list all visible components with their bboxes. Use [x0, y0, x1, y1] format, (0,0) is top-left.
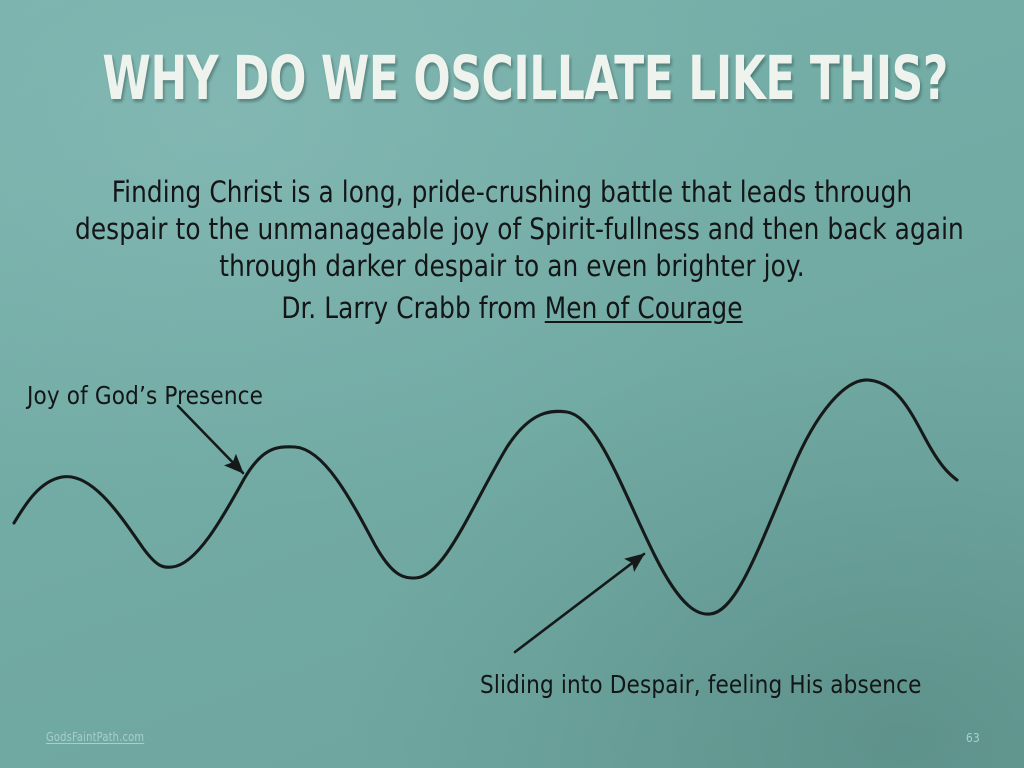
- annotation-label-joy: Joy of God’s Presence: [27, 382, 263, 410]
- presentation-slide: Why do we oscillate like this? Finding C…: [0, 0, 1024, 768]
- footer-website-link[interactable]: GodsFaintPath.com: [46, 730, 144, 744]
- annotation-label-despair: Sliding into Despair, feeling His absenc…: [480, 671, 922, 699]
- despair-annotation-arrow: [515, 554, 644, 652]
- oscillation-wave-curve: [14, 380, 957, 614]
- joy-annotation-arrow: [178, 406, 243, 473]
- footer-page-number: 63: [966, 731, 980, 745]
